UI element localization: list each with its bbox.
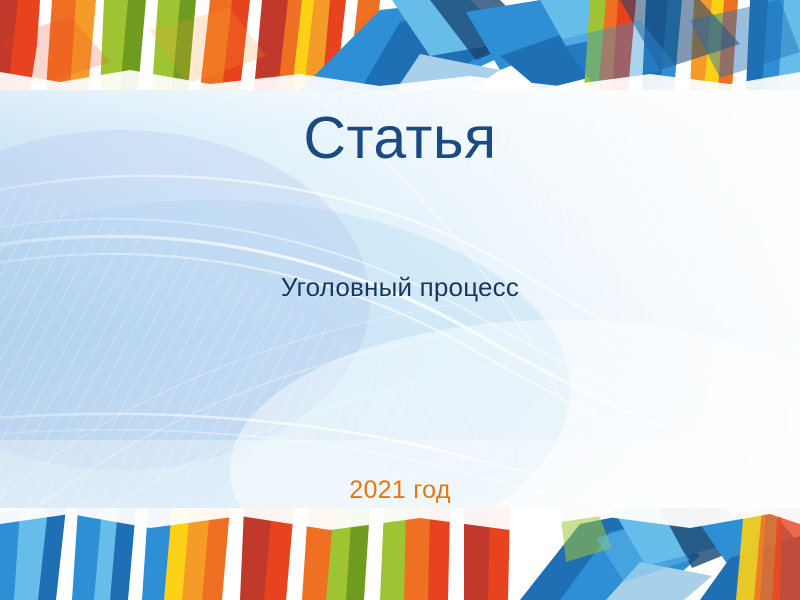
year-text: 2021 год <box>0 476 800 505</box>
subtitle-placeholder[interactable]: Уголовный процесс <box>0 272 800 303</box>
presentation-slide: Статья Уголовный процесс 2021 год <box>0 0 800 600</box>
year-placeholder[interactable]: 2021 год <box>0 476 800 505</box>
bottom-decorative-shards-band <box>0 508 800 600</box>
title-placeholder[interactable]: Статья <box>0 108 800 170</box>
page-title: Статья <box>0 108 800 170</box>
subtitle-text: Уголовный процесс <box>0 272 800 303</box>
top-decorative-shards-band <box>0 0 800 90</box>
